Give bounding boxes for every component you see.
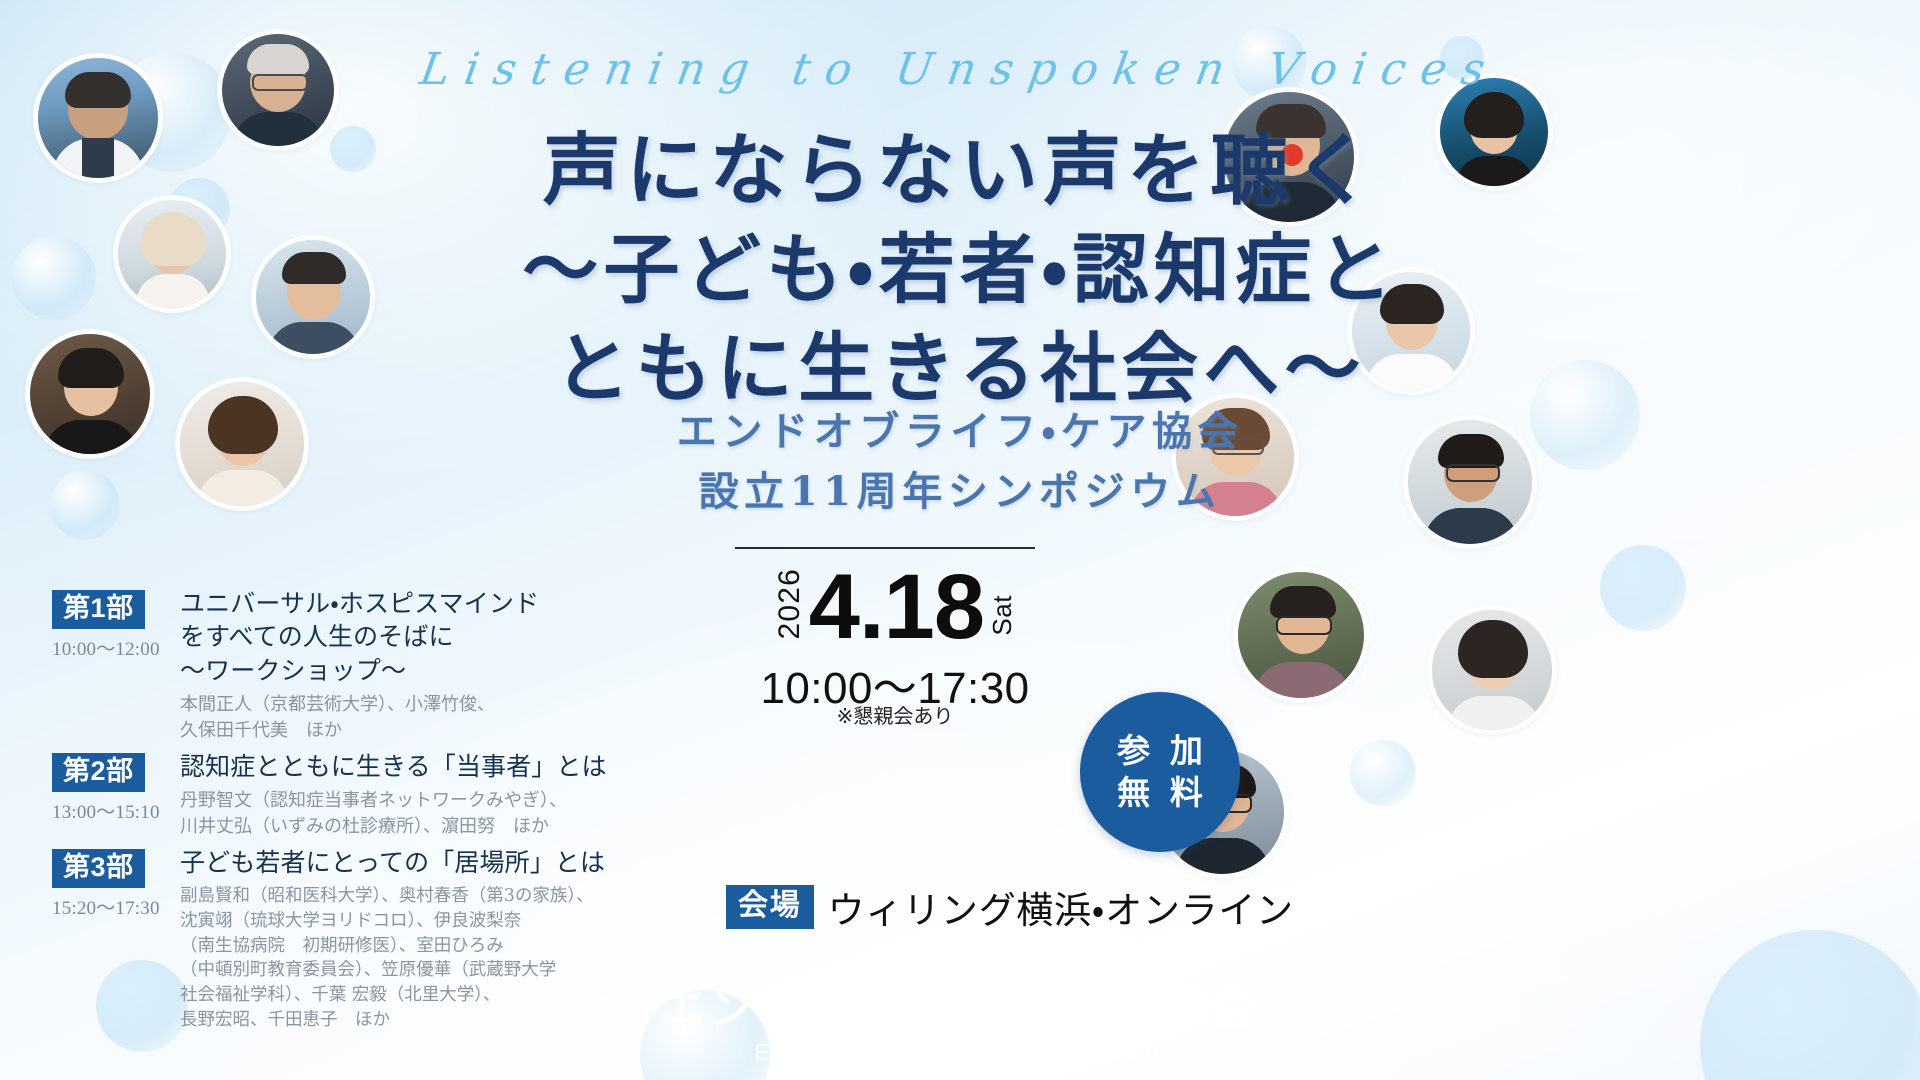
subtitle-line-1: エンドオブライフ・ケア協会 (0, 402, 1920, 462)
title-line-2: 〜子ども・若者・認知症と (0, 221, 1920, 320)
program-title-line: 認知症とともに生きる「当事者」とは (180, 751, 672, 784)
event-day-of-week: Sat (989, 595, 1015, 636)
venue-block: 会場 ウィリング横浜・オンライン (726, 880, 1294, 934)
program-speaker-line: 久保田千代美 ほか (180, 718, 672, 744)
bokeh-bubble (1350, 740, 1416, 806)
program-part-title: 子ども若者にとっての「居場所」とは (180, 847, 672, 880)
program-part-body: ユニバーサル・ホスピスマインドをすべての人生のそばに〜ワークショップ〜本間正人（… (170, 588, 672, 744)
speaker-portrait (1432, 610, 1552, 730)
program-part-speakers: 本間正人（京都芸術大学）、小澤竹俊、久保田千代美 ほか (180, 692, 672, 744)
program-part-speakers: 丹野智文（認知症当事者ネットワークみやぎ）、川井丈弘（いずみの杜診療所）、濵田努… (180, 788, 672, 840)
organization-name-en: End-of-Life Care Association of Japan (0, 1039, 1920, 1066)
program-part-time: 10:00〜12:00 (52, 634, 170, 661)
free-badge-line-2: 無 料 (1112, 772, 1208, 814)
program-list: 第1部10:00〜12:00ユニバーサル・ホスピスマインドをすべての人生のそばに… (52, 588, 672, 1040)
title-line-1: 声にならない声を聴く (0, 120, 1920, 221)
program-part-meta: 第2部13:00〜15:10 (52, 751, 170, 840)
venue-tag: 会場 (726, 885, 814, 930)
program-speaker-line: 長野宏昭、千田恵子 ほか (180, 1008, 672, 1033)
program-speaker-line: 沈寅翊（琉球大学ヨリドコロ）、伊良波梨奈 (180, 909, 672, 934)
program-title-line: をすべての人生のそばに (180, 621, 672, 654)
event-date-block: 2026 4.18 Sat (735, 565, 1055, 650)
program-part-time: 13:00〜15:10 (52, 797, 170, 824)
bokeh-bubble (1600, 545, 1686, 631)
event-note: ※懇親会あり (735, 700, 1055, 729)
program-part-title: 認知症とともに生きる「当事者」とは (180, 751, 672, 784)
script-tagline: Listening to Unspoken Voices (0, 44, 1920, 95)
program-speaker-line: 副島賢和（昭和医科大学）、奥村春香（第3の家族）、 (180, 884, 672, 909)
program-part-tag: 第1部 (52, 590, 145, 629)
program-part: 第3部15:20〜17:30子ども若者にとっての「居場所」とは副島賢和（昭和医科… (52, 847, 672, 1033)
program-speaker-line: 本間正人（京都芸術大学）、小澤竹俊、 (180, 692, 672, 718)
subtitle: エンドオブライフ・ケア協会 設立11周年シンポジウム (0, 402, 1920, 522)
program-part-time: 15:20〜17:30 (52, 893, 170, 920)
program-part-meta: 第3部15:20〜17:30 (52, 847, 170, 1033)
program-part-speakers: 副島賢和（昭和医科大学）、奥村春香（第3の家族）、沈寅翊（琉球大学ヨリドコロ）、… (180, 884, 672, 1033)
divider-rule (735, 547, 1035, 549)
program-part-tag: 第3部 (52, 849, 145, 888)
program-part: 第1部10:00〜12:00ユニバーサル・ホスピスマインドをすべての人生のそばに… (52, 588, 672, 744)
script-tagline-text: Listening to Unspoken Voices (417, 44, 1504, 95)
venue-name: ウィリング横浜・オンライン (828, 880, 1294, 934)
event-year: 2026 (775, 568, 805, 640)
program-speaker-line: （南生協病院 初期研修医）、室田ひろみ (180, 934, 672, 959)
free-badge-line-1: 参 加 (1112, 730, 1208, 772)
subtitle-line-2: 設立11周年シンポジウム (0, 462, 1920, 522)
event-date: 4.18 (809, 565, 984, 650)
poster-canvas: Listening to Unspoken Voices 声にならない声を聴く … (0, 0, 1920, 1080)
program-speaker-line: 丹野智文（認知症当事者ネットワークみやぎ）、 (180, 788, 672, 814)
program-speaker-line: 社会福祉学科）、千葉 宏毅（北里大学）、 (180, 983, 672, 1008)
speaker-portrait (1238, 572, 1364, 698)
program-part-body: 認知症とともに生きる「当事者」とは丹野智文（認知症当事者ネットワークみやぎ）、川… (170, 751, 672, 840)
program-title-line: 〜ワークショップ〜 (180, 655, 672, 688)
program-part-meta: 第1部10:00〜12:00 (52, 588, 170, 744)
program-part: 第2部13:00〜15:10認知症とともに生きる「当事者」とは丹野智文（認知症当… (52, 751, 672, 840)
program-speaker-line: （中頓別町教育委員会）、笠原優華（武蔵野大学 (180, 958, 672, 983)
program-part-body: 子ども若者にとっての「居場所」とは副島賢和（昭和医科大学）、奥村春香（第3の家族… (170, 847, 672, 1033)
free-admission-badge: 参 加 無 料 (1080, 692, 1240, 852)
program-title-line: ユニバーサル・ホスピスマインド (180, 588, 672, 621)
page-title: 声にならない声を聴く 〜子ども・若者・認知症と ともに生きる社会へ〜 (0, 120, 1920, 419)
program-speaker-line: 川井丈弘（いずみの杜診療所）、濵田努 ほか (180, 814, 672, 840)
program-part-title: ユニバーサル・ホスピスマインドをすべての人生のそばに〜ワークショップ〜 (180, 588, 672, 688)
program-title-line: 子ども若者にとっての「居場所」とは (180, 847, 672, 880)
program-part-tag: 第2部 (52, 753, 145, 792)
